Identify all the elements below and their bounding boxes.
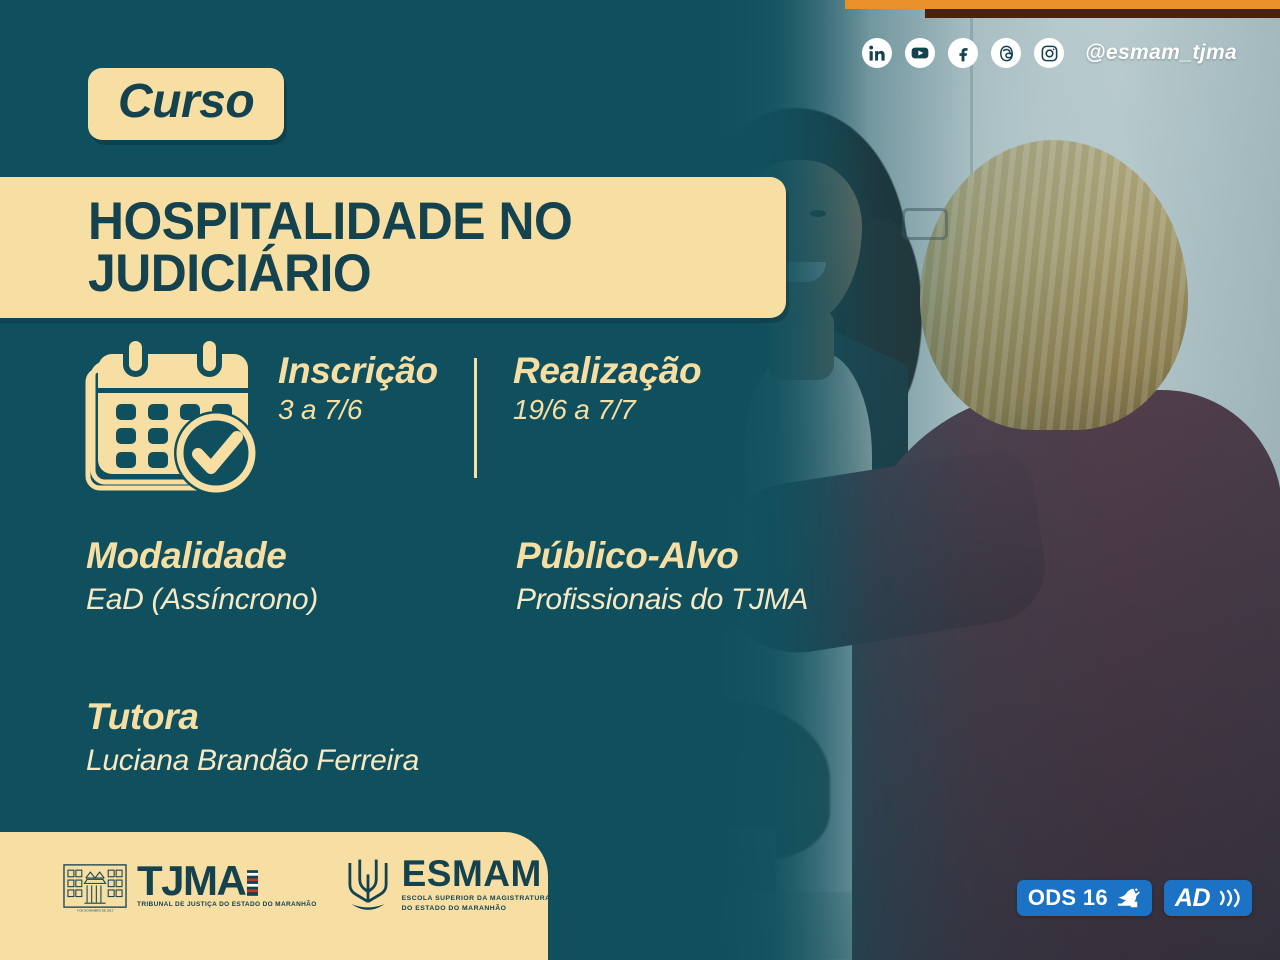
info-row-1: Modalidade EaD (Assíncrono) Público-Alvo…: [86, 536, 886, 618]
courthouse-icon: 4 DE NOVEMBRO DE 1813: [62, 858, 128, 914]
dates-block: Inscrição 3 a 7/6 Realização 19/6 a 7/7: [278, 352, 709, 478]
ods-16-label: ODS 16: [1028, 887, 1108, 909]
youtube-icon[interactable]: [905, 38, 935, 68]
modalidade-group: Modalidade EaD (Assíncrono): [86, 536, 516, 618]
dove-icon: [1115, 886, 1141, 910]
audio-waves-icon: [1217, 887, 1241, 909]
publico-alvo-label: Público-Alvo: [516, 536, 886, 577]
top-accent-bar-shadow: [925, 9, 1280, 18]
audio-description-badge[interactable]: AD: [1164, 880, 1252, 916]
curso-badge: Curso: [88, 68, 284, 140]
tjma-wordmark: TJMA: [137, 864, 245, 898]
course-title-banner: HOSPITALIDADE NO JUDICIÁRIO: [0, 177, 786, 318]
tjma-subtitle: TRIBUNAL DE JUSTIÇA DO ESTADO DO MARANHÃ…: [137, 901, 317, 908]
tutora-value: Luciana Brandão Ferreira: [86, 743, 419, 779]
linkedin-icon[interactable]: [862, 38, 892, 68]
audio-description-label: AD: [1175, 886, 1210, 911]
publico-alvo-group: Público-Alvo Profissionais do TJMA: [516, 536, 886, 618]
course-title-line-2: JUDICIÁRIO: [88, 248, 744, 300]
esmam-subtitle-line-1: ESCOLA SUPERIOR DA MAGISTRATURA: [402, 894, 551, 904]
esmam-logo: ESMAM ESCOLA SUPERIOR DA MAGISTRATURA DO…: [343, 858, 551, 914]
social-links: @esmam_tjma: [862, 38, 1237, 68]
maranhao-flag-icon: [247, 870, 258, 896]
tjma-building-caption: 4 DE NOVEMBRO DE 1813: [77, 909, 114, 913]
tutora-label: Tutora: [86, 697, 419, 738]
inscricao-label: Inscrição: [278, 352, 474, 391]
modalidade-value: EaD (Assíncrono): [86, 582, 516, 618]
tjma-logo: 4 DE NOVEMBRO DE 1813 TJMA TRIBUNAL DE J…: [62, 858, 317, 914]
realizacao-label: Realização: [513, 352, 709, 391]
esmam-book-tulip-icon: [343, 858, 393, 914]
modalidade-label: Modalidade: [86, 536, 516, 577]
top-accent-bar: [845, 0, 1280, 9]
footer-logos: 4 DE NOVEMBRO DE 1813 TJMA TRIBUNAL DE J…: [62, 858, 551, 914]
esmam-wordmark: ESMAM: [402, 858, 551, 889]
ods-16-badge[interactable]: ODS 16: [1017, 880, 1152, 916]
accessibility-badges: ODS 16 AD: [1017, 880, 1252, 916]
esmam-subtitle-line-2: DO ESTADO DO MARANHÃO: [402, 904, 551, 914]
instagram-icon[interactable]: [1034, 38, 1064, 68]
inscricao-value: 3 a 7/6: [278, 393, 474, 427]
photo-left-fade: [640, 0, 870, 960]
social-handle[interactable]: @esmam_tjma: [1085, 41, 1237, 65]
course-title-line-1: HOSPITALIDADE NO: [88, 196, 744, 248]
tutora-group: Tutora Luciana Brandão Ferreira: [86, 697, 419, 779]
curso-badge-label: Curso: [118, 78, 254, 126]
inscricao-group: Inscrição 3 a 7/6: [278, 352, 474, 426]
calendar-check-icon: [82, 336, 268, 501]
course-poster: @esmam_tjma Curso HOSPITALIDADE NO JUDIC…: [0, 0, 1280, 960]
publico-alvo-value: Profissionais do TJMA: [516, 582, 886, 618]
threads-icon[interactable]: [991, 38, 1021, 68]
realizacao-group: Realização 19/6 a 7/7: [477, 352, 709, 426]
facebook-icon[interactable]: [948, 38, 978, 68]
realizacao-value: 19/6 a 7/7: [513, 393, 709, 427]
info-block: Modalidade EaD (Assíncrono) Público-Alvo…: [86, 536, 886, 710]
photo-two-women-greeting: [640, 0, 1280, 960]
